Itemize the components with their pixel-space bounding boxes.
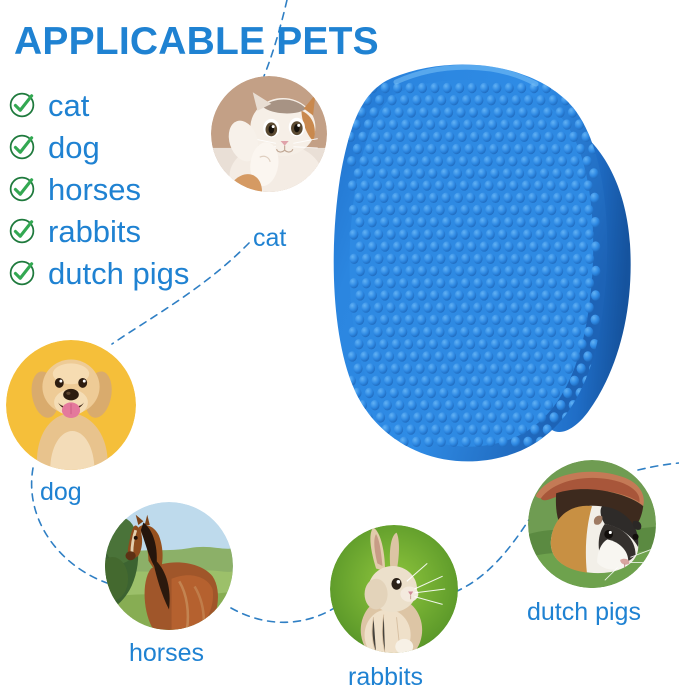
pet-photo-cat: [211, 76, 327, 192]
check-circle-icon: [8, 217, 36, 245]
check-circle-icon: [8, 91, 36, 119]
checklist-item-label: dutch pigs: [48, 258, 189, 289]
pet-photo-rabbits: [330, 525, 458, 653]
checklist-item-label: rabbits: [48, 216, 141, 247]
checklist-item-dutch-pigs: dutch pigs: [8, 252, 189, 294]
pet-caption-rabbits: rabbits: [348, 663, 423, 692]
checklist-item-horses: horses: [8, 168, 189, 210]
pet-caption-cat: cat: [253, 224, 286, 253]
pet-grooming-brush-image: [300, 48, 660, 478]
applicable-pets-checklist: cat dog horses rabbits: [8, 84, 189, 294]
checklist-item-dog: dog: [8, 126, 189, 168]
applicable-pets-infographic: APPLICABLE PETS cat dog horses: [0, 0, 679, 697]
connector-rabbits-to-dutchpigs: [455, 512, 534, 592]
check-circle-icon: [8, 133, 36, 161]
pet-caption-dog: dog: [40, 478, 82, 507]
checklist-item-label: dog: [48, 132, 100, 163]
check-circle-icon: [8, 175, 36, 203]
checklist-item-label: horses: [48, 174, 141, 205]
pet-caption-dutch-pigs: dutch pigs: [527, 598, 641, 627]
pet-photo-horses: [105, 502, 233, 630]
connector-horses-to-rabbits: [231, 602, 343, 622]
page-title: APPLICABLE PETS: [14, 20, 379, 64]
pet-photo-dog: [6, 340, 136, 470]
pet-photo-dutch-pigs: [528, 460, 656, 588]
checklist-item-rabbits: rabbits: [8, 210, 189, 252]
pet-caption-horses: horses: [129, 639, 204, 668]
check-circle-icon: [8, 259, 36, 287]
checklist-item-label: cat: [48, 90, 89, 121]
checklist-item-cat: cat: [8, 84, 189, 126]
